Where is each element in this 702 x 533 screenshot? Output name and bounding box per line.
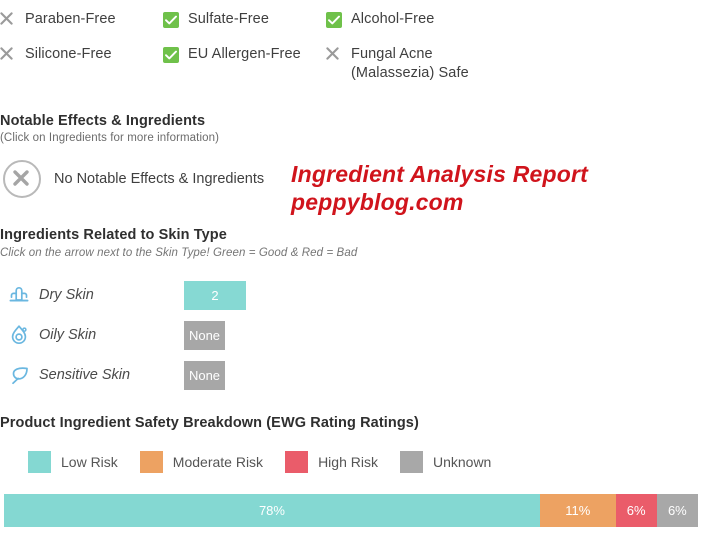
legend-swatch	[400, 451, 423, 473]
skin-type-subtitle: Click on the arrow next to the Skin Type…	[0, 247, 460, 259]
claim-item: Sulfate-Free	[163, 6, 326, 41]
skin-type-label: Dry Skin	[36, 287, 184, 303]
watermark-text: Ingredient Analysis Report peppyblog.com	[291, 160, 588, 216]
legend-swatch	[28, 451, 51, 473]
droplet-icon	[2, 323, 36, 347]
skin-type-section: Ingredients Related to Skin Type Click o…	[0, 227, 460, 259]
skin-type-rows: Dry Skin2Oily SkinNoneSensitive SkinNone	[0, 275, 300, 395]
skin-type-count-badge[interactable]: None	[184, 361, 225, 390]
skin-type-count-badge[interactable]: None	[184, 321, 225, 350]
bar-segment: 6%	[616, 494, 657, 527]
legend-label: Moderate Risk	[173, 454, 263, 470]
claim-item: Fungal Acne (Malassezia) Safe	[326, 41, 566, 76]
claim-label: EU Allergen-Free	[188, 45, 301, 64]
claim-item: Silicone-Free	[0, 41, 163, 76]
skin-type-row[interactable]: Sensitive SkinNone	[0, 355, 300, 395]
leaf-icon	[2, 363, 36, 387]
notable-effects-title: Notable Effects & Ingredients	[0, 113, 400, 129]
skin-type-label: Oily Skin	[36, 327, 184, 343]
skin-type-title: Ingredients Related to Skin Type	[0, 227, 460, 243]
legend-item: Low Risk	[28, 451, 118, 473]
claim-item: Paraben-Free	[0, 6, 163, 41]
legend-label: Unknown	[433, 454, 491, 470]
ewg-breakdown-title: Product Ingredient Safety Breakdown (EWG…	[0, 415, 419, 431]
check-icon	[163, 12, 179, 28]
bar-segment: 6%	[657, 494, 698, 527]
cactus-icon	[2, 282, 36, 308]
claim-label: Alcohol-Free	[351, 10, 434, 29]
ewg-stacked-bar: 78%11%6%6%	[4, 494, 698, 527]
legend-item: Unknown	[400, 451, 491, 473]
cross-icon	[0, 12, 16, 28]
legend-label: High Risk	[318, 454, 378, 470]
circle-x-icon	[3, 160, 41, 198]
skin-type-label: Sensitive Skin	[36, 367, 184, 383]
skin-type-count-badge[interactable]: 2	[184, 281, 246, 310]
cross-icon	[0, 47, 16, 63]
claim-item: Alcohol-Free	[326, 6, 566, 41]
bar-segment: 78%	[4, 494, 540, 527]
skin-type-row[interactable]: Dry Skin2	[0, 275, 300, 315]
no-notable-effects-row: No Notable Effects & Ingredients	[3, 160, 264, 198]
legend-item: High Risk	[285, 451, 378, 473]
notable-effects-section: Notable Effects & Ingredients (Click on …	[0, 113, 400, 144]
bar-segment: 11%	[540, 494, 616, 527]
claim-label: Paraben-Free	[25, 10, 116, 29]
claim-item: EU Allergen-Free	[163, 41, 326, 76]
legend-label: Low Risk	[61, 454, 118, 470]
legend-swatch	[285, 451, 308, 473]
claim-label: Sulfate-Free	[188, 10, 269, 29]
claim-label: Fungal Acne (Malassezia) Safe	[351, 45, 469, 83]
check-icon	[163, 47, 179, 63]
free-from-claims-grid: Paraben-FreeSulfate-FreeAlcohol-FreeSili…	[0, 6, 702, 76]
legend-item: Moderate Risk	[140, 451, 263, 473]
skin-type-row[interactable]: Oily SkinNone	[0, 315, 300, 355]
notable-effects-subtitle: (Click on Ingredients for more informati…	[0, 132, 400, 144]
check-icon	[326, 12, 342, 28]
claim-label: Silicone-Free	[25, 45, 112, 64]
no-notable-effects-label: No Notable Effects & Ingredients	[54, 171, 264, 187]
cross-icon	[326, 47, 342, 63]
legend-swatch	[140, 451, 163, 473]
ewg-legend: Low RiskModerate RiskHigh RiskUnknown	[28, 451, 513, 473]
